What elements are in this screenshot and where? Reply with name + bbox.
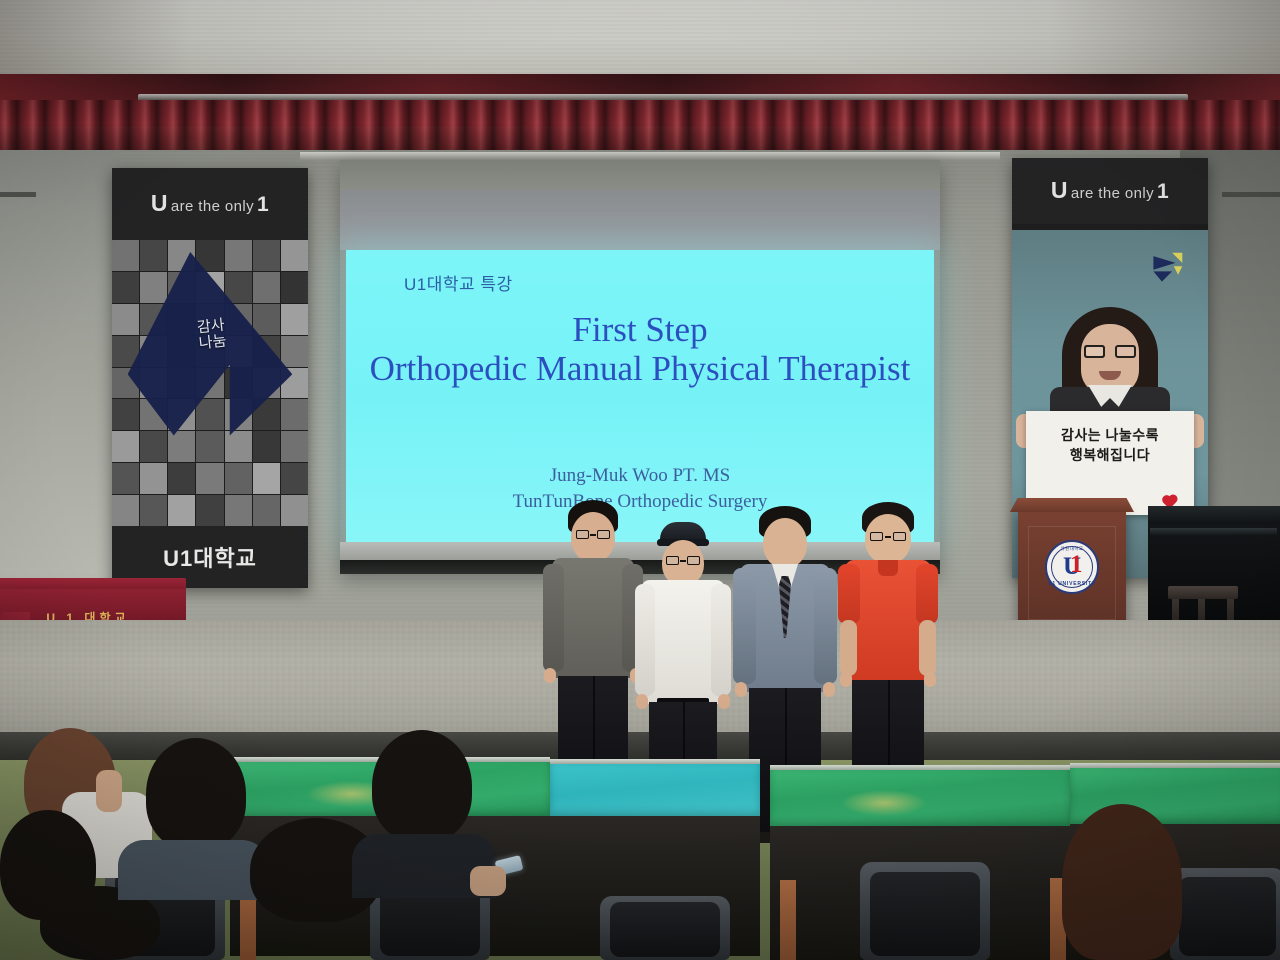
- screen-soffit: [300, 152, 1000, 160]
- banner-right-one-digit: 1: [1157, 180, 1169, 204]
- screen-unlit-area: [340, 190, 940, 250]
- person-hand-left: [544, 668, 556, 683]
- banner-right-u-letter: U: [1051, 179, 1068, 202]
- desk-wood-armrest: [780, 880, 796, 960]
- person-hand-left: [636, 694, 648, 709]
- person-arm-left: [733, 568, 756, 684]
- screen-top-housing: [340, 160, 940, 190]
- seal-one-digit: 1: [1070, 552, 1083, 577]
- slide-author-name: Jung-Muk Woo PT. MS: [346, 463, 934, 489]
- banner-left: U are the only 1: [112, 168, 308, 588]
- slide-title-line-2: Orthopedic Manual Physical Therapist: [346, 349, 934, 388]
- slide-title-line-1: First Step: [346, 310, 934, 349]
- person-hand-right: [924, 672, 936, 687]
- banner-left-header-text: U are the only 1: [151, 192, 269, 217]
- piano-lid: [1148, 506, 1280, 524]
- seal-bottom-text: U1 UNIVERSITY: [1047, 581, 1097, 587]
- auditorium-seat: [600, 896, 730, 960]
- university-seal: 유원대학교 U 1 U1 UNIVERSITY: [1045, 540, 1099, 594]
- desk-surface-green: [770, 770, 1070, 826]
- audience-desk-front-right: [770, 770, 1070, 826]
- podium-top-surface: [1010, 498, 1134, 512]
- auditorium-seat: [860, 862, 990, 960]
- seat-cushion: [870, 872, 979, 956]
- eyeglasses-icon: [666, 556, 700, 565]
- eyeglasses-icon: [870, 532, 906, 541]
- person-head: [763, 518, 807, 568]
- polo-collar: [878, 560, 898, 576]
- banner-right-header: U are the only 1: [1012, 158, 1208, 224]
- lectern-podium: 유원대학교 U 1 U1 UNIVERSITY: [1018, 508, 1126, 630]
- audience-member-head: [372, 730, 472, 842]
- audience-member-arm: [96, 770, 122, 812]
- slide-kicker-text: U1대학교 특강: [404, 270, 513, 295]
- held-sign-line-2: 행복해집니다: [1026, 445, 1195, 465]
- seat-cushion: [610, 902, 719, 957]
- banner-left-u-letter: U: [151, 192, 168, 215]
- auditorium-seat: [1170, 868, 1280, 960]
- person-sleeve-left: [838, 564, 860, 624]
- person-hand-left: [735, 682, 747, 697]
- banner-right-header-text: U are the only 1: [1051, 179, 1169, 204]
- person-arm-left: [543, 564, 564, 672]
- banner-right-tagline: are the only: [1071, 185, 1154, 202]
- banner-left-footer-text: U1대학교: [163, 541, 257, 573]
- person-arm-left: [635, 584, 655, 696]
- banner-left-one-digit: 1: [257, 193, 269, 217]
- banner-left-header: U are the only 1: [112, 168, 308, 240]
- banner-left-arrow-text: 감사 나눔: [197, 318, 228, 352]
- banner-right-person-glasses-icon: [1084, 345, 1136, 358]
- person-arm-right: [814, 568, 837, 684]
- person-hand-right: [823, 682, 835, 697]
- eyeglasses-icon: [576, 530, 610, 539]
- wall-vent-left: [0, 192, 36, 197]
- lecture-hall-photo: U are the only 1: [0, 0, 1280, 960]
- audience-member-hand: [470, 866, 506, 896]
- desk-surface-teal: [550, 764, 760, 816]
- audience-member-head: [146, 738, 246, 850]
- seat-cushion: [1179, 877, 1276, 956]
- person-sleeve-right: [916, 564, 938, 624]
- audience-member-long-hair: [1062, 804, 1182, 960]
- person-hand-right: [718, 694, 730, 709]
- wall-left-panel: [0, 150, 120, 620]
- wall-vent-right: [1222, 192, 1280, 197]
- held-sign-line-1: 감사는 나눌수록: [1026, 425, 1195, 445]
- seal-u-monogram: U 1: [1063, 554, 1081, 579]
- piano-keyboard-strip: [1150, 528, 1277, 535]
- audience-member-shoulders: [118, 840, 268, 900]
- arrow-text-line-2: 나눔: [198, 333, 227, 352]
- bench-seat: [1168, 586, 1238, 599]
- person-arm-right: [711, 584, 731, 696]
- person-hand-left: [840, 672, 852, 687]
- banner-left-tagline: are the only: [171, 198, 254, 215]
- person-forearm-left: [840, 620, 857, 676]
- slide-title: First Step Orthopedic Manual Physical Th…: [346, 310, 934, 388]
- audience-desk-front-center: [550, 764, 760, 816]
- u1-brand-mark-icon: [1150, 251, 1184, 285]
- person-forearm-right: [919, 620, 936, 676]
